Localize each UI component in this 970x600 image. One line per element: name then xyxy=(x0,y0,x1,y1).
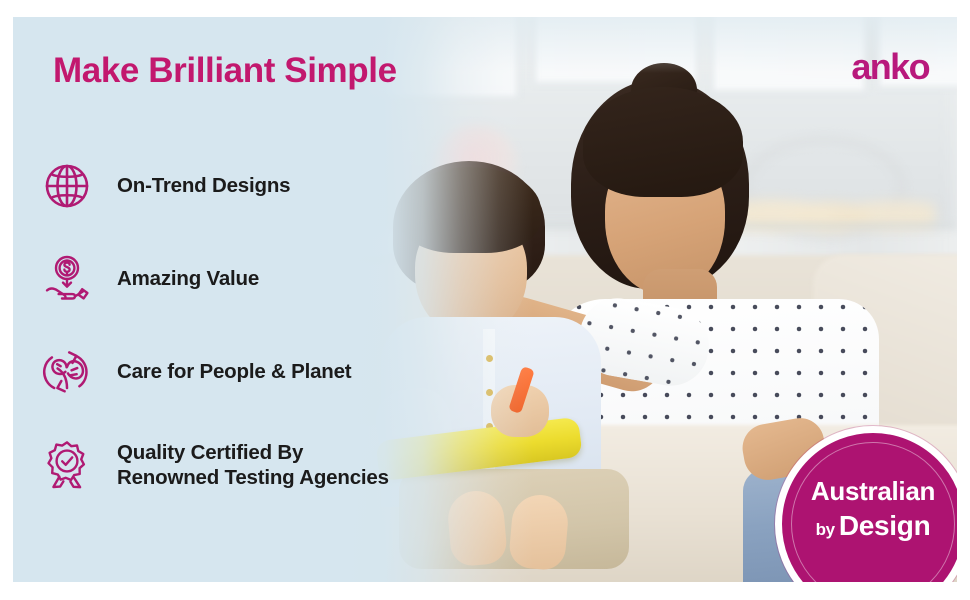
child-shirt-button xyxy=(486,389,493,396)
hand-coin-icon xyxy=(35,247,99,311)
badge-by-word: by xyxy=(816,520,835,539)
globe-icon xyxy=(35,154,99,218)
badge-line-australian: Australian xyxy=(792,477,954,506)
feature-label: Quality Certified By Renowned Testing Ag… xyxy=(117,440,389,490)
feature-item-care-for-people-planet: Care for People & Planet xyxy=(35,325,455,418)
feature-list: On-Trend Designs xyxy=(35,139,455,511)
badge-line-by-design: byDesign xyxy=(792,511,954,542)
cabinet-panel xyxy=(711,17,867,93)
mother-hair-front xyxy=(583,87,743,197)
child-shirt-button xyxy=(486,355,493,362)
anko-logo: anko xyxy=(851,49,929,85)
kitchen-jars xyxy=(735,177,935,241)
feature-label: Care for People & Planet xyxy=(117,359,351,384)
banner-frame: Make Brilliant Simple anko On-Trend Desi… xyxy=(13,17,957,582)
page-title: Make Brilliant Simple xyxy=(53,51,397,91)
feature-label: On-Trend Designs xyxy=(117,173,290,198)
badge-design-word: Design xyxy=(839,510,931,541)
badge-text: Australian byDesign xyxy=(782,477,957,542)
recycle-leaf-icon xyxy=(35,340,99,404)
feature-item-amazing-value: Amazing Value xyxy=(35,232,455,325)
feature-item-on-trend-designs: On-Trend Designs xyxy=(35,139,455,232)
feature-label: Amazing Value xyxy=(117,266,259,291)
feature-item-quality-certified: Quality Certified By Renowned Testing Ag… xyxy=(35,418,455,511)
anko-brand-banner: Make Brilliant Simple anko On-Trend Desi… xyxy=(0,0,970,600)
child-foot xyxy=(508,493,570,572)
award-rosette-icon xyxy=(35,433,99,497)
